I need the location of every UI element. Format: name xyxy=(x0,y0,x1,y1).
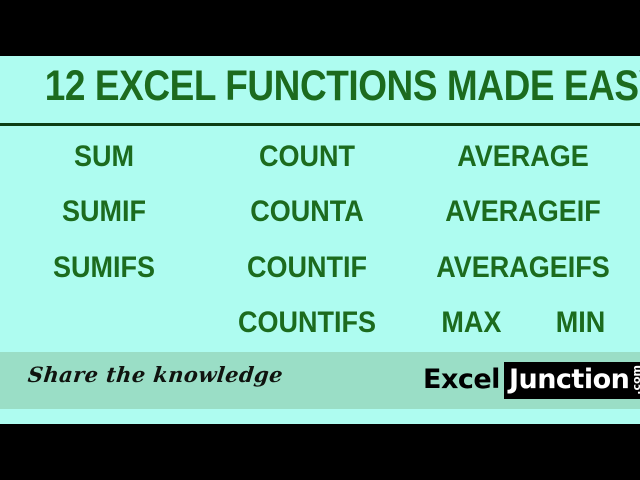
slide-screenshot: 12 EXCEL FUNCTIONS MADE EASY SUM SUMIF S… xyxy=(0,0,640,480)
function-item-sumif: SUMIF xyxy=(10,195,197,229)
function-item-min: MIN xyxy=(556,306,606,340)
logo-junction-box: Junction .com xyxy=(504,362,640,399)
function-item-sumifs: SUMIFS xyxy=(10,251,197,285)
function-item-counta: COUNTA xyxy=(218,195,396,229)
function-item-countifs: COUNTIFS xyxy=(218,306,396,340)
title-area: 12 EXCEL FUNCTIONS MADE EASY xyxy=(0,56,640,123)
function-item-averageif: AVERAGEIF xyxy=(418,195,629,229)
function-column-sum: SUM SUMIF SUMIFS xyxy=(0,130,208,352)
function-item-average: AVERAGE xyxy=(418,140,629,174)
function-item-countif: COUNTIF xyxy=(218,251,396,285)
function-item-averageifs: AVERAGEIFS xyxy=(418,251,629,285)
page-title: 12 EXCEL FUNCTIONS MADE EASY xyxy=(45,62,595,110)
footer-strip xyxy=(0,409,640,424)
logo-word-excel: Excel xyxy=(423,365,500,395)
logo-word-junction: Junction xyxy=(509,365,629,395)
function-item-sum: SUM xyxy=(10,140,197,174)
function-item-max: MAX xyxy=(441,306,501,340)
function-pair-max-min: MAX MIN xyxy=(406,306,640,340)
function-item-count: COUNT xyxy=(218,140,396,174)
function-column-count: COUNT COUNTA COUNTIF COUNTIFS xyxy=(208,130,406,352)
logo-tld-dotcom: .com xyxy=(631,365,640,395)
slide-body: 12 EXCEL FUNCTIONS MADE EASY SUM SUMIF S… xyxy=(0,56,640,424)
share-tagline: Share the knowledge xyxy=(26,360,284,390)
title-divider xyxy=(0,123,640,126)
function-grid: SUM SUMIF SUMIFS COUNT COUNTA COUNTIF CO… xyxy=(0,130,640,352)
brand-logo: Excel Junction .com xyxy=(423,360,640,400)
letterbox-top xyxy=(0,0,640,56)
letterbox-bottom xyxy=(0,424,640,480)
footer-band: Share the knowledge Excel Junction .com xyxy=(0,352,640,409)
function-column-average: AVERAGE AVERAGEIF AVERAGEIFS MAX MIN xyxy=(406,130,640,352)
